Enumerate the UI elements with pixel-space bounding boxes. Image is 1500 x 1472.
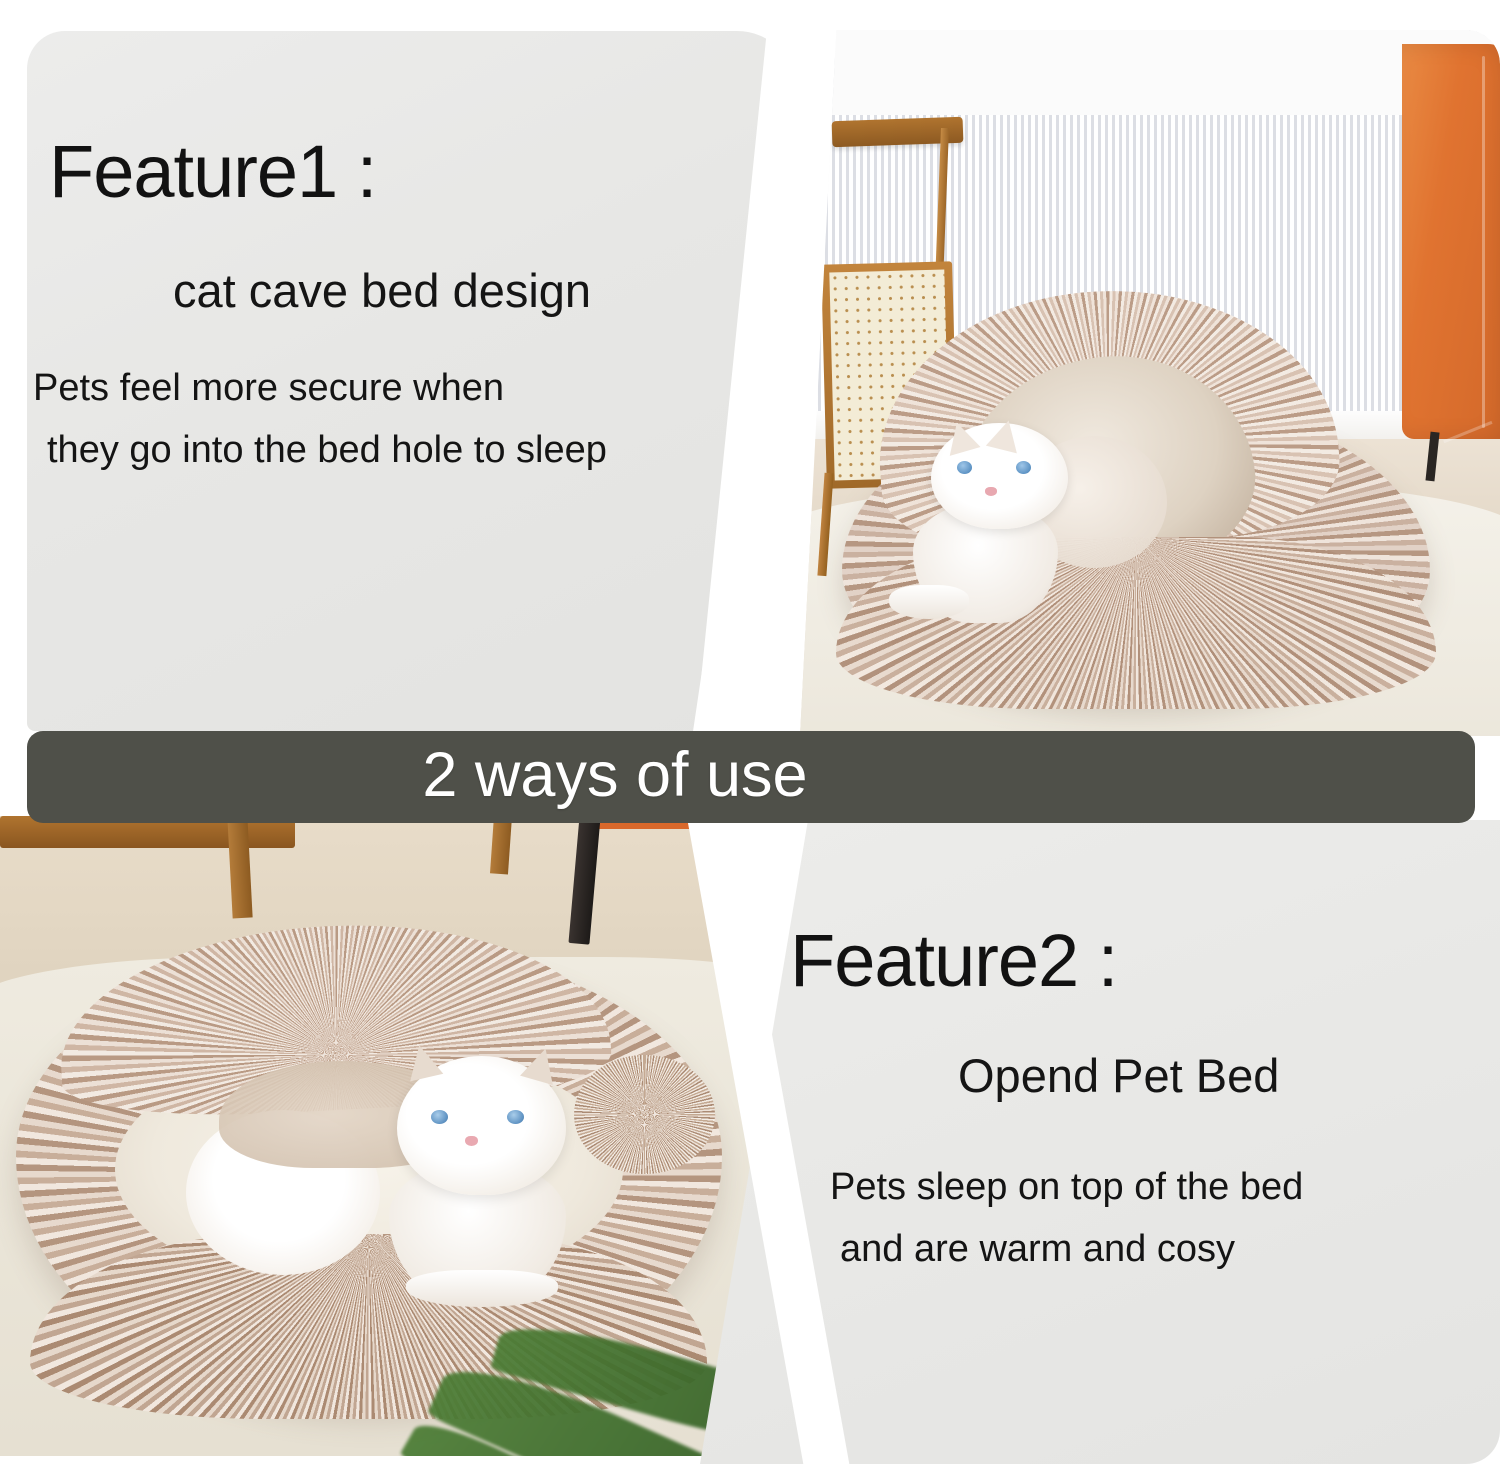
cat-paw (889, 585, 969, 619)
cat-nose (985, 487, 997, 496)
plush-cave-bed (842, 291, 1430, 700)
feature2-body-line-1: Pets sleep on top of the bed (830, 1168, 1303, 1208)
cat-head (931, 423, 1067, 529)
cat-ear-right (985, 416, 1023, 453)
feature2-body-line-2: and are warm and cosy (840, 1230, 1235, 1270)
armchair-seam-vertical (1482, 56, 1485, 428)
cat-paws (406, 1270, 558, 1307)
feature1-heading: Feature1 : (49, 135, 376, 209)
infographic-stage: Feature1 : cat cave bed design Pets feel… (0, 0, 1500, 1464)
feature1-body-line-1: Pets feel more secure when (33, 369, 504, 409)
cave-bed-photo-inner (800, 30, 1500, 736)
cat-eye-right (1016, 461, 1031, 474)
cat-eye-right (507, 1110, 524, 1124)
cat-ear-left (941, 418, 980, 456)
feature2-subheading: Opend Pet Bed (958, 1052, 1279, 1099)
cave-bed-photo (800, 30, 1500, 736)
feature2-heading: Feature2 : (790, 924, 1117, 998)
open-bed-photo (0, 816, 820, 1456)
opened-plush-bed (16, 944, 721, 1405)
feature1-body-line-2: they go into the bed hole to sleep (47, 431, 607, 471)
banner-text: 2 ways of use (422, 744, 807, 807)
feature1-subheading: cat cave bed design (173, 267, 591, 314)
feature1-text-panel: Feature1 : cat cave bed design Pets feel… (27, 31, 797, 731)
cat-in-cave (913, 410, 1148, 623)
cat-on-bed (186, 1045, 609, 1312)
open-bed-photo-inner (0, 816, 820, 1456)
cat-eye-left (431, 1110, 448, 1124)
center-banner: 2 ways of use (27, 731, 1475, 823)
